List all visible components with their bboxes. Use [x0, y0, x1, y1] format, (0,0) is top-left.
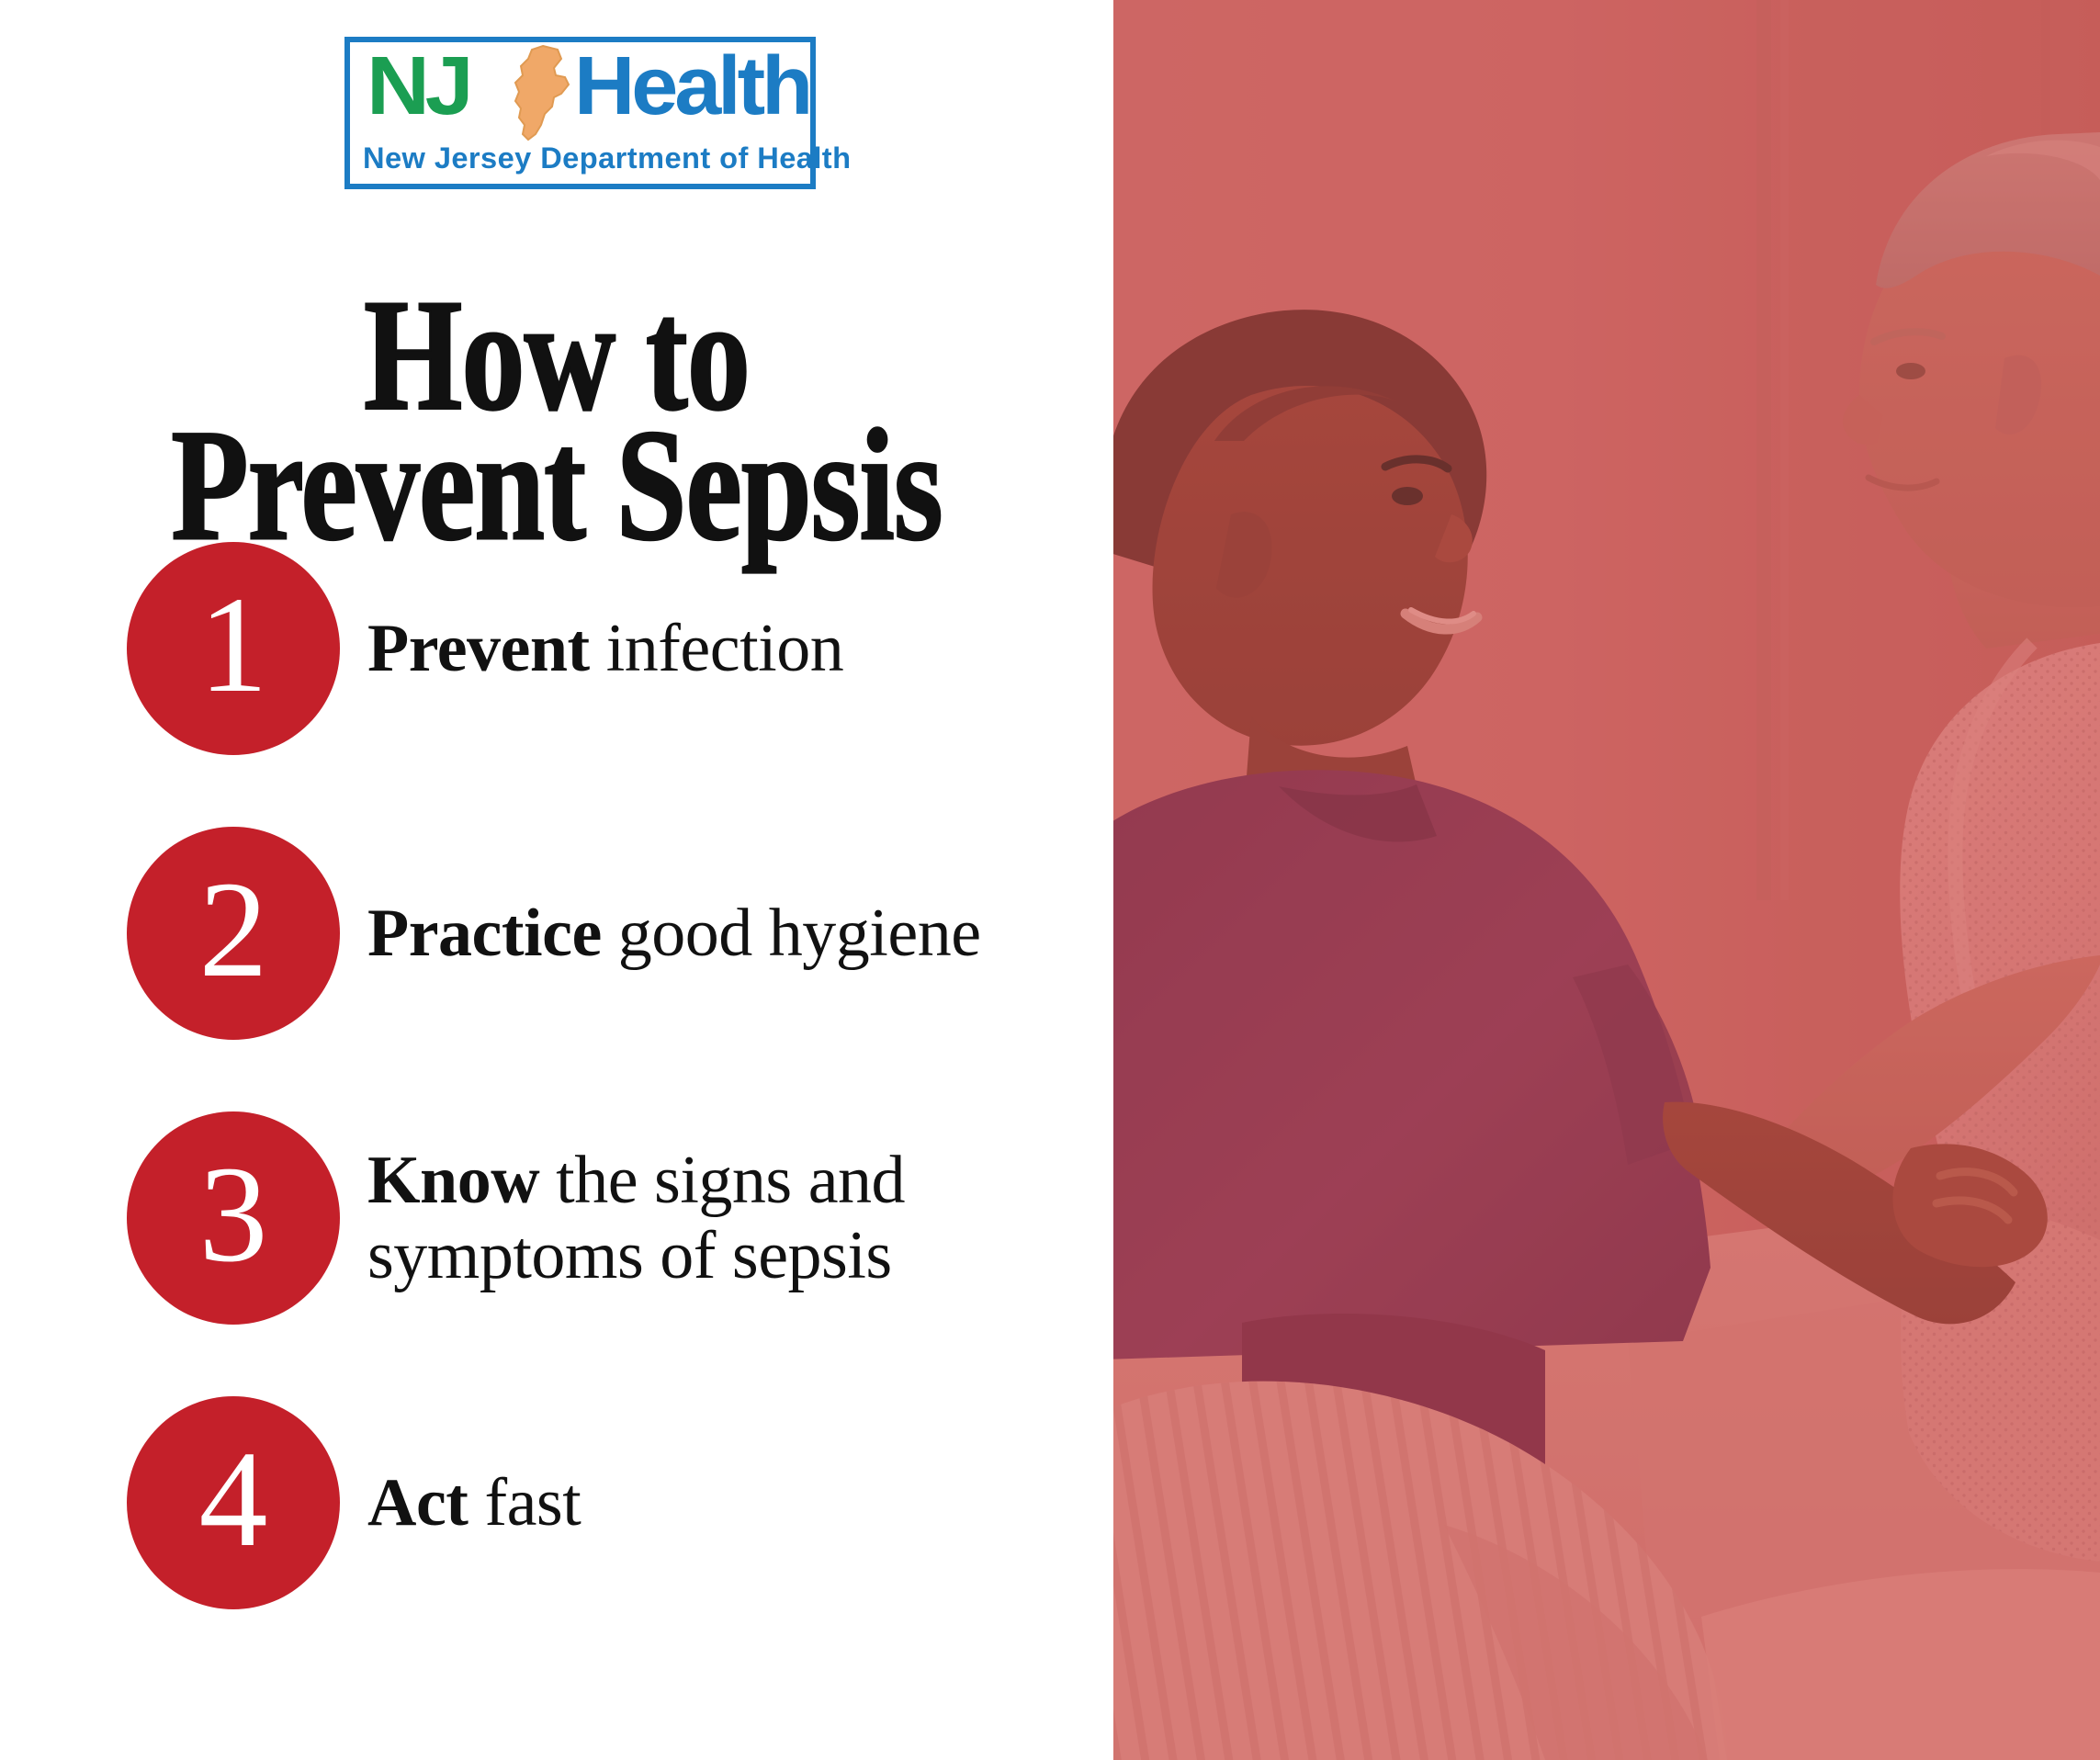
logo-wordmark: NJ Health — [363, 50, 797, 134]
infographic-poster: NJ Health New Jersey Department of Healt… — [0, 0, 2100, 1760]
step-text-emphasis: Practice — [367, 896, 602, 971]
step-number-badge: 3 — [127, 1111, 340, 1325]
list-item: 3 Know the signs and symptoms of sepsis — [0, 1111, 1113, 1325]
step-text: Know the signs and symptoms of sepsis — [367, 1143, 1093, 1293]
logo-health-text: Health — [574, 44, 809, 129]
logo-subtitle: New Jersey Department of Health — [363, 141, 806, 175]
step-text: Practice good hygiene — [367, 896, 981, 971]
step-text-emphasis: Act — [367, 1465, 468, 1540]
step-number-badge: 1 — [127, 542, 340, 755]
step-text-rest: infection — [590, 611, 844, 686]
step-number-badge: 4 — [127, 1396, 340, 1609]
list-item: 2 Practice good hygiene — [0, 827, 1113, 1040]
list-item: 4 Act fast — [0, 1396, 1113, 1609]
title-line-2: Prevent Sepsis — [44, 420, 1068, 550]
step-text: Prevent infection — [367, 611, 843, 686]
prevention-steps-list: 1 Prevent infection 2 Practice good hygi… — [0, 542, 1113, 1681]
step-text-emphasis: Know — [367, 1143, 539, 1218]
hero-photo — [1113, 0, 2100, 1760]
step-text-rest: fast — [468, 1465, 581, 1540]
page-title: How to Prevent Sepsis — [44, 290, 1068, 550]
step-text-emphasis: Prevent — [367, 611, 590, 686]
new-jersey-state-outline-icon — [501, 44, 589, 143]
step-text: Act fast — [367, 1465, 581, 1540]
content-panel: NJ Health New Jersey Department of Healt… — [0, 0, 1113, 1760]
hero-photo-illustration — [1113, 0, 2100, 1760]
nj-health-logo: NJ Health New Jersey Department of Healt… — [344, 37, 816, 189]
logo-nj-text: NJ — [367, 44, 469, 129]
list-item: 1 Prevent infection — [0, 542, 1113, 755]
step-number-badge: 2 — [127, 827, 340, 1040]
step-text-rest: good hygiene — [602, 896, 981, 971]
